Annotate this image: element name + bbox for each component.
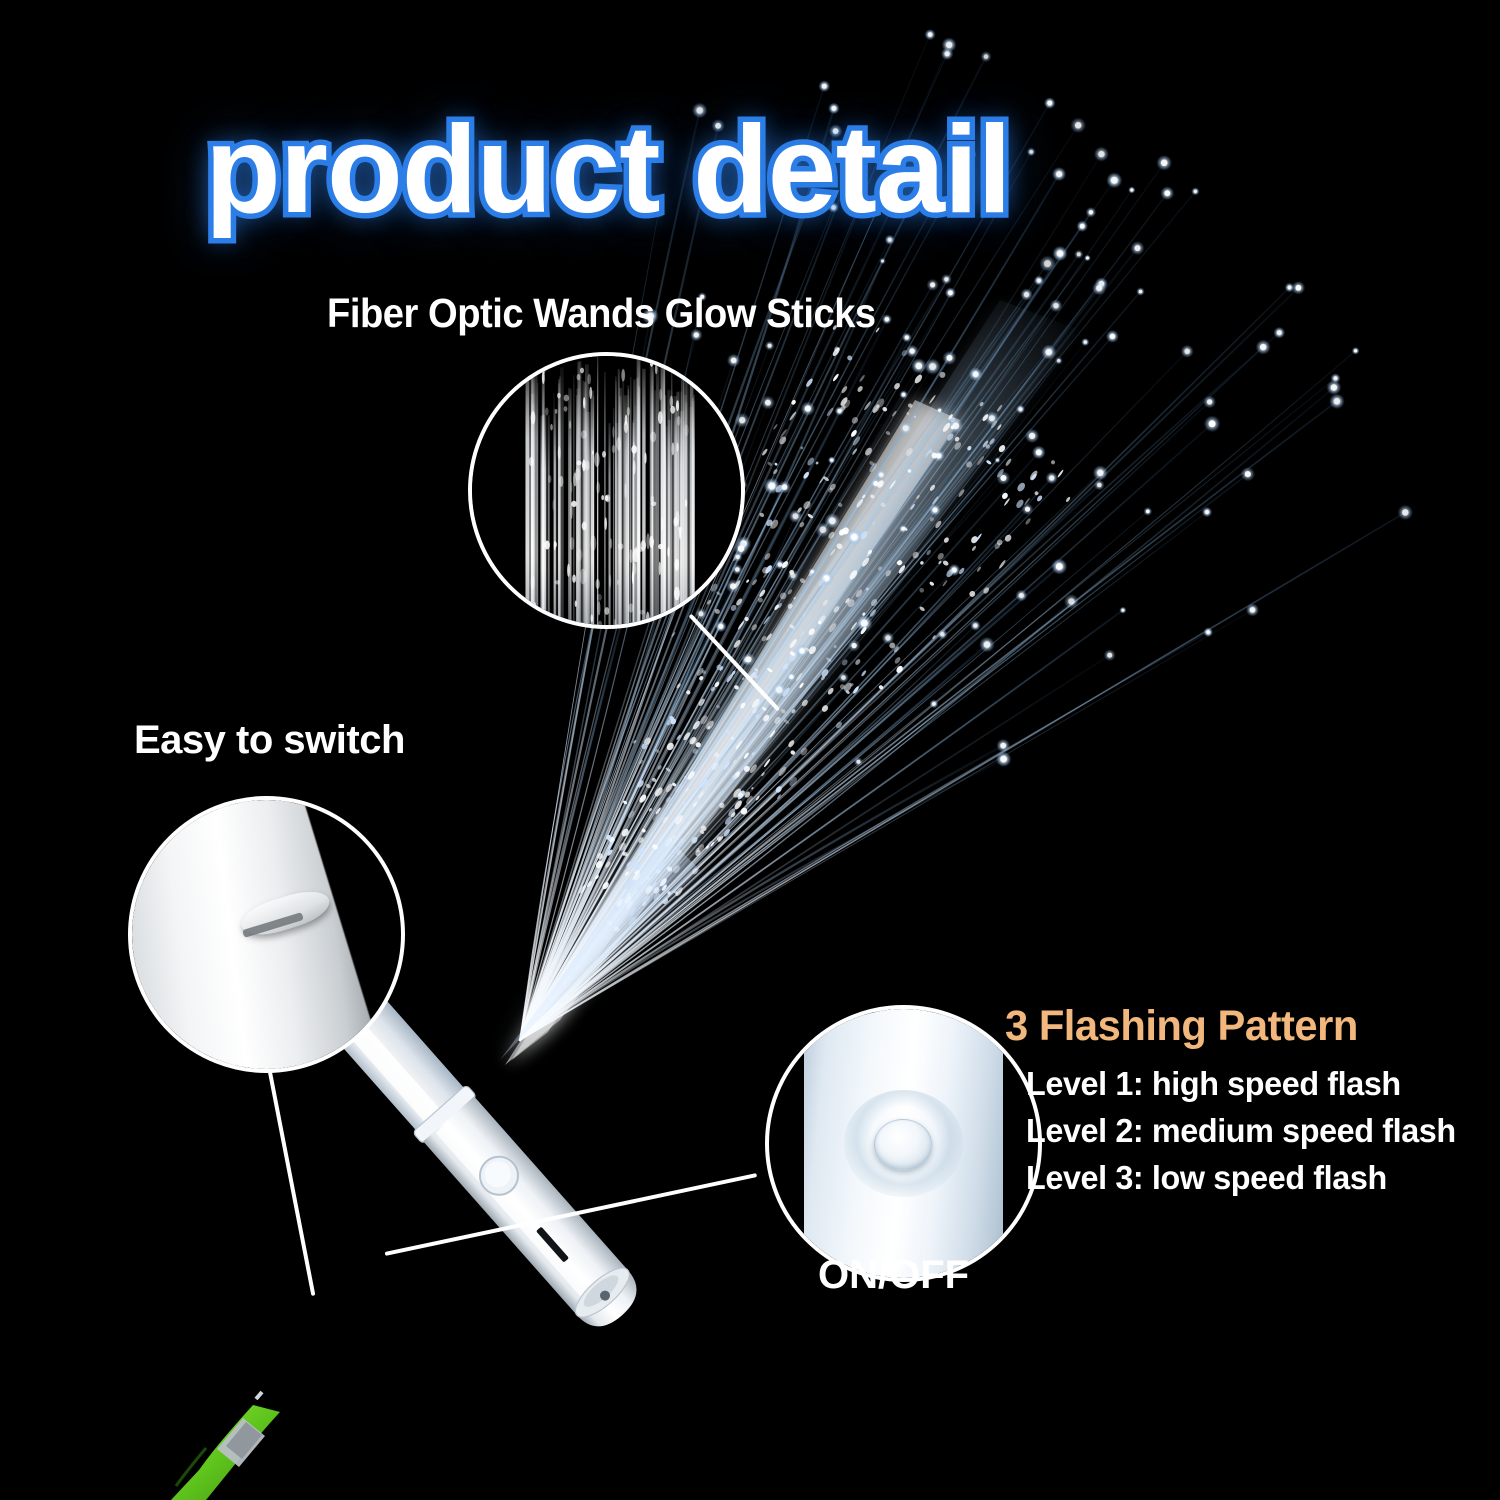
slide-switch-macro-icon	[132, 800, 401, 1069]
flashing-pattern-list: Level 1: high speed flash Level 2: mediu…	[1026, 1065, 1465, 1206]
callout-label-on-off: ON/OFF	[818, 1253, 969, 1298]
flashing-level-2: Level 2: medium speed flash	[1026, 1112, 1456, 1150]
flashing-level-1: Level 1: high speed flash	[1026, 1065, 1456, 1103]
product-detail-image: product detail Fiber Optic Wands Glow St…	[0, 0, 1500, 1500]
page-subtitle: Fiber Optic Wands Glow Sticks	[327, 290, 876, 337]
callout-on-off	[765, 1005, 1042, 1282]
fiber-bundle-macro-icon	[472, 356, 741, 625]
callout-fiber-bundle	[468, 352, 745, 629]
page-title: product detail	[205, 108, 1011, 232]
callout-easy-switch	[128, 796, 405, 1073]
flashing-level-3: Level 3: low speed flash	[1026, 1159, 1456, 1197]
flashing-pattern-heading: 3 Flashing Pattern	[1005, 1002, 1358, 1051]
power-button-macro-icon	[769, 1009, 1038, 1278]
callout-label-easy-switch: Easy to switch	[134, 718, 405, 763]
